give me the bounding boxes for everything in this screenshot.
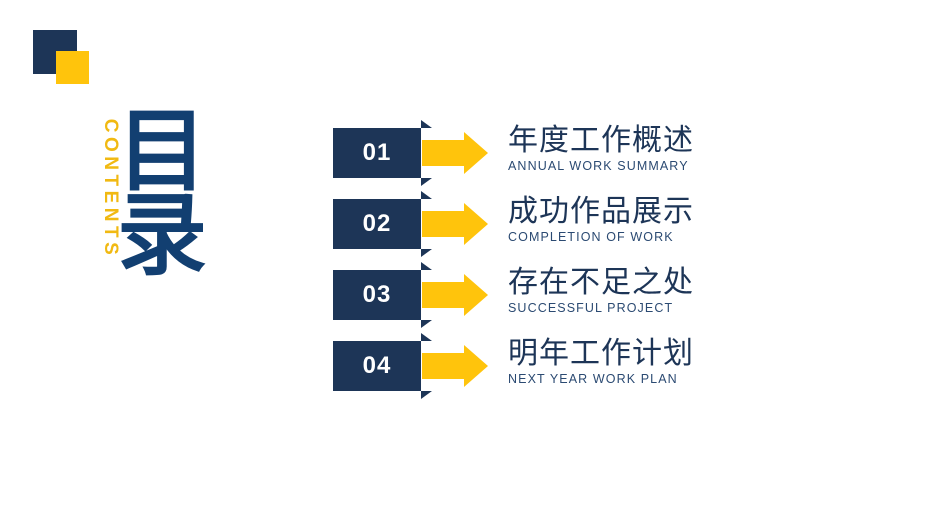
ribbon-flag-bottom-icon [421,249,432,257]
arrow-right-icon [422,203,488,245]
page-title-cn-char-1: 目 [112,110,212,194]
agenda-number-badge: 04 [333,341,421,391]
ribbon-flag-bottom-icon [421,178,432,186]
agenda-title-cn: 年度工作概述 [508,125,838,157]
page-title-cn: 目 录 [112,110,212,277]
arrow-right-icon [422,345,488,387]
page-title-block: CONTENTS 目 录 [70,110,270,305]
agenda-number-badge: 02 [333,199,421,249]
agenda-title-cn: 明年工作计划 [508,338,838,370]
ribbon-flag-bottom-icon [421,391,432,399]
agenda-title-en: COMPLETION OF WORK [508,230,838,244]
page-title-cn-char-2: 录 [112,194,212,278]
ribbon-flag-top-icon [421,262,432,270]
agenda-text-group: 成功作品展示 COMPLETION OF WORK [508,196,838,244]
agenda-title-en: NEXT YEAR WORK PLAN [508,372,838,386]
agenda-title-en: SUCCESSFUL PROJECT [508,301,838,315]
agenda-text-group: 明年工作计划 NEXT YEAR WORK PLAN [508,338,838,386]
ribbon-flag-top-icon [421,333,432,341]
agenda-number-badge: 03 [333,270,421,320]
slide-canvas: CONTENTS 目 录 01 年度工作概述 ANNUAL WORK SUMMA… [0,0,945,529]
agenda-title-cn: 存在不足之处 [508,267,838,299]
agenda-title-cn: 成功作品展示 [508,196,838,228]
arrow-right-icon [422,274,488,316]
decor-square-yellow [56,51,89,84]
agenda-number-badge: 01 [333,128,421,178]
agenda-text-group: 存在不足之处 SUCCESSFUL PROJECT [508,267,838,315]
arrow-right-icon [422,132,488,174]
ribbon-flag-bottom-icon [421,320,432,328]
agenda-title-en: ANNUAL WORK SUMMARY [508,159,838,173]
ribbon-flag-top-icon [421,191,432,199]
ribbon-flag-top-icon [421,120,432,128]
agenda-text-group: 年度工作概述 ANNUAL WORK SUMMARY [508,125,838,173]
